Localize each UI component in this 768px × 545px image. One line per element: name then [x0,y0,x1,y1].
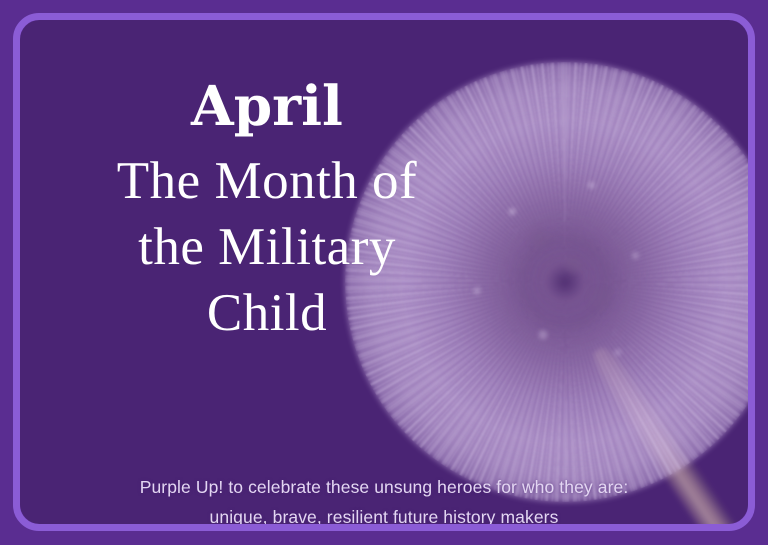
poster-canvas: April The Month of the Military Child Pu… [0,0,768,545]
poster-subtitle: Purple Up! to celebrate these unsung her… [40,472,728,524]
headline-month: April [28,78,506,133]
headline-line-1: The Month of [28,155,506,208]
subtitle-line-1: Purple Up! to celebrate these unsung her… [40,472,728,502]
headline-line-2: the Military [28,221,506,274]
page-title: April The Month of the Military Child [28,78,506,340]
poster-inner-panel: April The Month of the Military Child Pu… [20,20,748,524]
subtitle-line-2: unique, brave, resilient future history … [40,502,728,524]
headline-line-3: Child [28,287,506,340]
